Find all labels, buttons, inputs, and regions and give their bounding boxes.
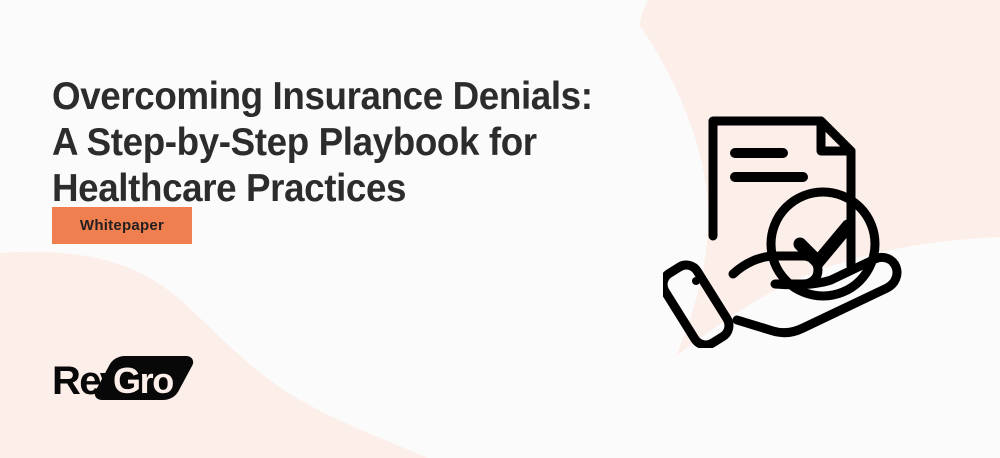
status-badge: Whitepaper xyxy=(52,207,192,244)
logo-text-gro: Gro xyxy=(113,360,173,401)
revgro-logo: Rev Gro xyxy=(52,352,202,404)
cuff-button-dot-icon xyxy=(692,277,700,285)
sleeve-cuff-icon xyxy=(663,260,734,348)
whitepaper-cover-banner: Overcoming Insurance Denials: A Step-by-… xyxy=(0,0,1000,458)
page-title: Overcoming Insurance Denials: A Step-by-… xyxy=(52,74,644,212)
badge-label: Whitepaper xyxy=(80,218,164,233)
hand-holding-verified-document-icon xyxy=(663,96,915,348)
